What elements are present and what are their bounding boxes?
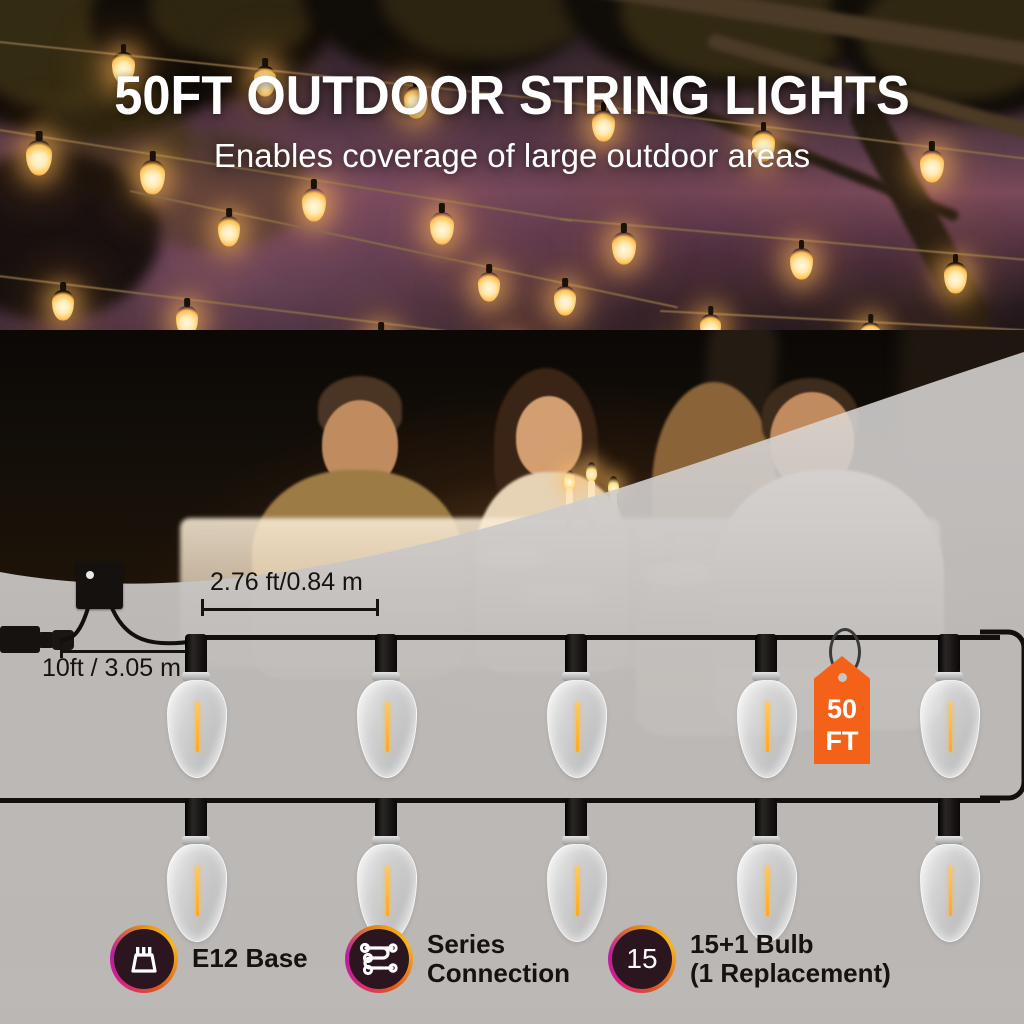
badge-inner xyxy=(114,929,174,989)
badge-inner: 15 xyxy=(612,929,672,989)
bulb-filament xyxy=(196,702,199,752)
bulb-filament xyxy=(576,702,579,752)
bulb-socket xyxy=(375,634,397,674)
bottom-cord xyxy=(0,798,1000,803)
badge-inner xyxy=(349,929,409,989)
feature-label: Series Connection xyxy=(427,930,570,988)
tag-value: 50 xyxy=(814,696,870,723)
bulb-filament xyxy=(949,866,952,916)
bulb-socket xyxy=(938,798,960,838)
cord-return-bend xyxy=(980,630,1024,810)
bulb-filament xyxy=(386,866,389,916)
tag-hole xyxy=(838,673,847,682)
bulb-filament xyxy=(576,866,579,916)
page-title: 50FT OUTDOOR STRING LIGHTS xyxy=(41,68,983,123)
feature-series-connection[interactable]: Series Connection xyxy=(345,925,570,993)
feature-badge: 15 xyxy=(608,925,676,993)
lead-cord xyxy=(0,540,1024,870)
spacing-dimension-line xyxy=(201,608,379,611)
series-circuit-icon xyxy=(359,940,399,978)
page-subtitle: Enables coverage of large outdoor areas xyxy=(0,139,1024,172)
bulb-socket xyxy=(755,634,777,674)
bulb-filament xyxy=(949,702,952,752)
bulb-socket xyxy=(565,798,587,838)
bulb-socket xyxy=(185,798,207,838)
length-tag: 50 FT xyxy=(814,656,870,764)
tag-unit: FT xyxy=(814,728,870,755)
bulb-count-icon: 15 xyxy=(626,945,657,973)
feature-e12-base[interactable]: E12 Base xyxy=(110,925,308,993)
bulb-filament xyxy=(386,702,389,752)
product-infographic: 50FT OUTDOOR STRING LIGHTS Enables cover… xyxy=(0,0,1024,1024)
dimension-cap xyxy=(376,599,379,616)
feature-label: E12 Base xyxy=(192,944,308,973)
feature-badge xyxy=(345,925,413,993)
bulb-filament xyxy=(766,702,769,752)
lead-dimension-line xyxy=(60,650,196,653)
top-cord xyxy=(188,635,1000,640)
e12-socket-icon xyxy=(125,943,163,975)
lead-length-label: 10ft / 3.05 m xyxy=(42,654,181,683)
bulb-filament xyxy=(766,866,769,916)
bulb-spacing-label: 2.76 ft/0.84 m xyxy=(210,568,363,597)
title-block: 50FT OUTDOOR STRING LIGHTS Enables cover… xyxy=(0,68,1024,172)
bulb-socket xyxy=(375,798,397,838)
bulb-socket xyxy=(938,634,960,674)
feature-bulb-count[interactable]: 15 15+1 Bulb (1 Replacement) xyxy=(608,925,891,993)
feature-badge xyxy=(110,925,178,993)
bulb-filament xyxy=(196,866,199,916)
feature-label: 15+1 Bulb (1 Replacement) xyxy=(690,930,891,988)
bulb-socket xyxy=(565,634,587,674)
bulb-socket xyxy=(755,798,777,838)
feature-row: E12 Base Series Connection xyxy=(0,915,1024,1015)
dimension-cap xyxy=(201,599,204,616)
product-dimension-diagram: 10ft / 3.05 m 2.76 ft/0.84 m xyxy=(0,540,1024,870)
bulb-socket xyxy=(185,634,207,674)
